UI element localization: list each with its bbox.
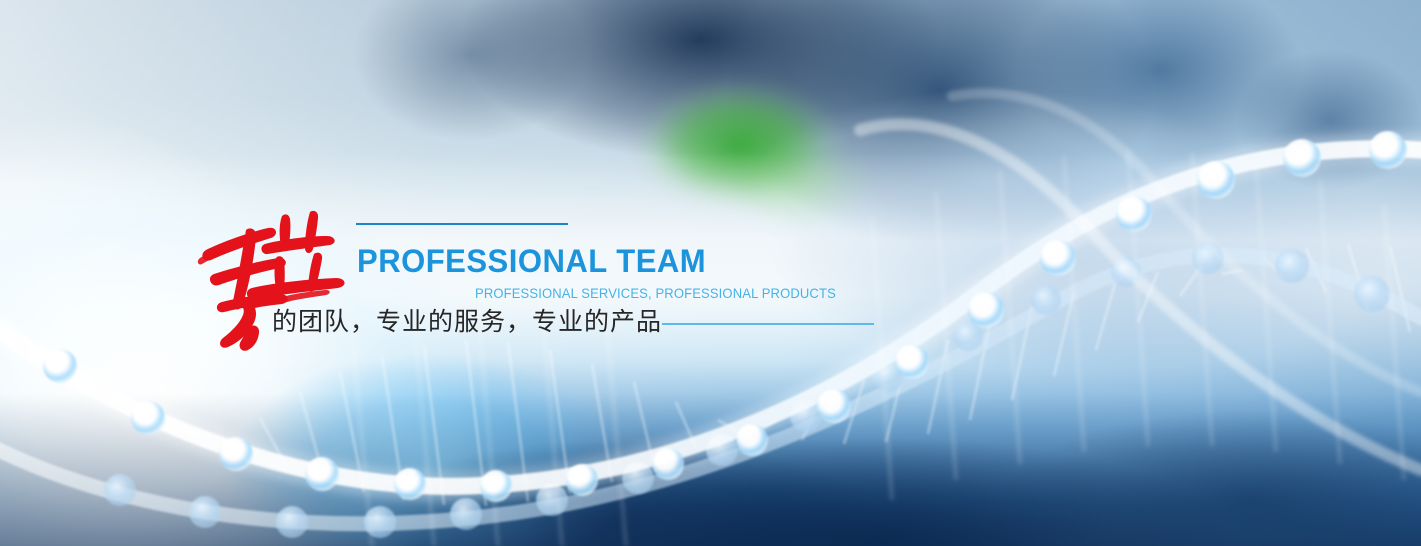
page-subtitle: PROFESSIONAL SERVICES, PROFESSIONAL PROD… bbox=[475, 286, 836, 300]
chinese-tagline: 的团队，专业的服务，专业的产品 bbox=[272, 307, 662, 337]
decorative-rule-top bbox=[356, 223, 568, 225]
hero-banner: PROFESSIONAL TEAM PROFESSIONAL SERVICES,… bbox=[0, 0, 1421, 546]
decorative-rule-bottom bbox=[662, 323, 874, 325]
page-title: PROFESSIONAL TEAM bbox=[357, 245, 706, 277]
hero-text-block: PROFESSIONAL TEAM PROFESSIONAL SERVICES,… bbox=[0, 0, 1421, 546]
